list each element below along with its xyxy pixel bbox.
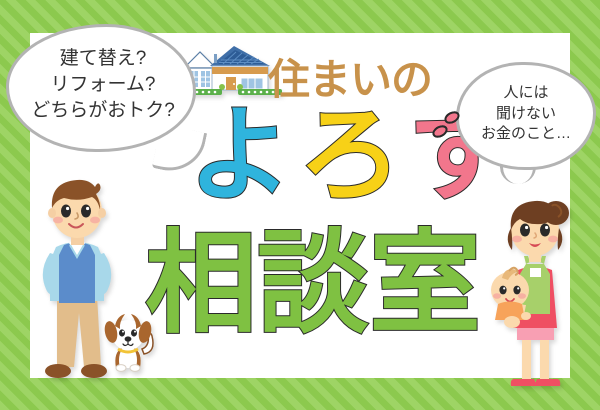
- banner-root: 住まいの よろす 相談室: [0, 0, 600, 410]
- title-char-yo: よ: [188, 103, 292, 207]
- mother-holding-baby-icon: [488, 198, 582, 398]
- right-bubble-line-2: 聞けない: [481, 104, 571, 125]
- speech-bubble-left: 建て替え? リフォーム? どちらがおトク?: [6, 24, 196, 152]
- speech-bubble-right: 人には 聞けない お金のこと…: [456, 62, 596, 170]
- left-bubble-line-2: リフォーム?: [31, 72, 175, 98]
- left-bubble-line-3: どちらがおトク?: [31, 98, 175, 124]
- left-bubble-line-1: 建て替え?: [31, 46, 175, 72]
- dog-sitting-icon: [100, 310, 158, 372]
- title-char-dan: 談: [257, 228, 369, 340]
- title-char-sou: 相: [145, 228, 257, 340]
- title-bottom-row: 相談室: [145, 228, 481, 340]
- right-bubble-line-3: お金のこと…: [481, 124, 571, 145]
- title-char-shitsu: 室: [369, 228, 481, 340]
- title-char-ro: ろ: [298, 103, 402, 207]
- right-bubble-line-1: 人には: [481, 83, 571, 104]
